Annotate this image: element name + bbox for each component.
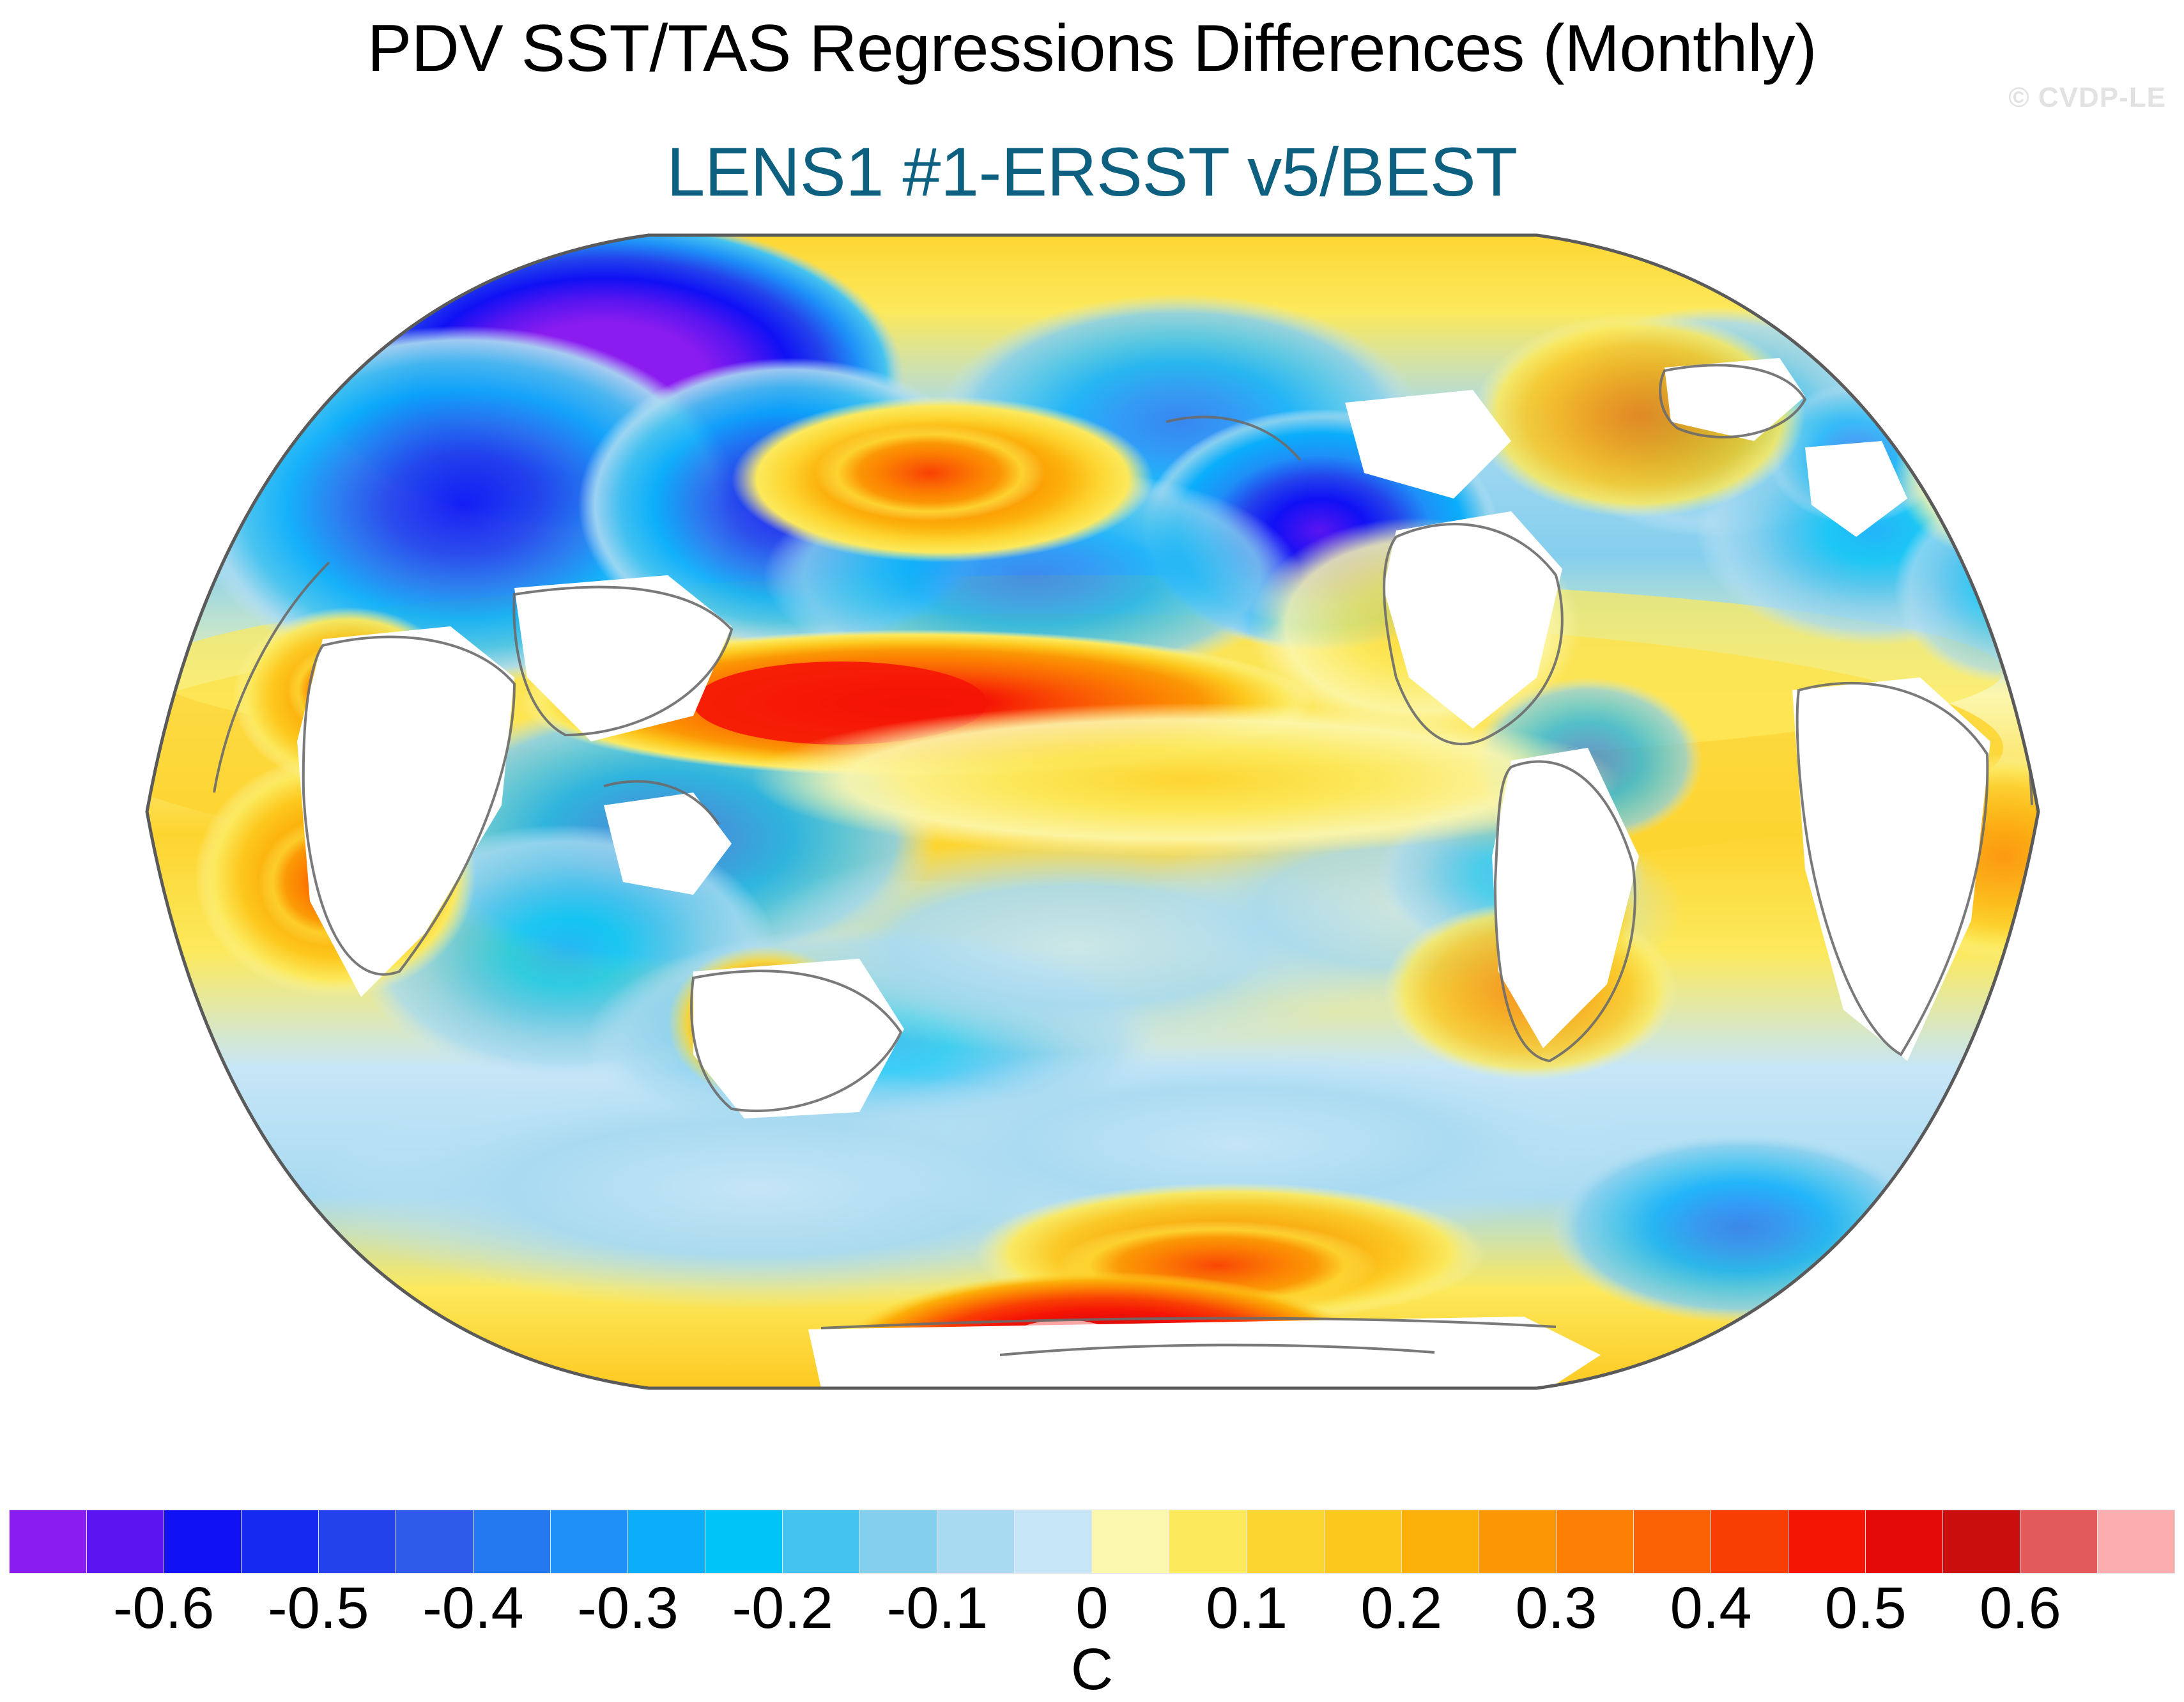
colorbar-cell <box>1092 1510 1169 1573</box>
colorbar-cell <box>2098 1510 2174 1573</box>
colorbar-tick: -0.3 <box>577 1579 679 1637</box>
colorbar-cell <box>87 1510 164 1573</box>
colorbar-tick: -0.6 <box>113 1579 215 1637</box>
colorbar-cell <box>1325 1510 1402 1573</box>
page-title: PDV SST/TAS Regressions Differences (Mon… <box>0 14 2184 84</box>
map-data-layer <box>118 230 2067 1393</box>
colorbar-cell <box>10 1510 87 1573</box>
colorbar-tick: 0 <box>1075 1579 1108 1637</box>
colorbar-cell <box>551 1510 628 1573</box>
colorbar-cell <box>1015 1510 1092 1573</box>
colorbar-tick: 0.5 <box>1825 1579 1907 1637</box>
colorbar-cell <box>1943 1510 2020 1573</box>
colorbar-cell <box>705 1510 783 1573</box>
colorbar-tick: -0.5 <box>268 1579 369 1637</box>
copyright-label: © CVDP-LE <box>2008 82 2166 114</box>
colorbar-cell <box>396 1510 473 1573</box>
colorbar-cell <box>242 1510 319 1573</box>
colorbar-cell <box>628 1510 705 1573</box>
colorbar-cell <box>937 1510 1015 1573</box>
colorbar-cell <box>1247 1510 1325 1573</box>
colorbar-tick: -0.4 <box>422 1579 524 1637</box>
world-map-panel <box>118 230 2067 1393</box>
colorbar-tick: 0.4 <box>1670 1579 1752 1637</box>
colorbar-tick: -0.2 <box>732 1579 833 1637</box>
colorbar-units-label: C <box>1071 1640 1113 1699</box>
anomaly-north-pacific-warm-core <box>815 425 1045 521</box>
colorbar-tick: 0.6 <box>1980 1579 2061 1637</box>
colorbar-cell <box>1711 1510 1788 1573</box>
colorbar-cell <box>473 1510 551 1573</box>
colorbar-cell <box>1866 1510 1943 1573</box>
colorbar-cell <box>164 1510 242 1573</box>
anomaly-weddell-cold <box>1550 1131 1933 1323</box>
colorbar-cell <box>1634 1510 1711 1573</box>
colorbar-cell <box>319 1510 396 1573</box>
colorbar-cell <box>1402 1510 1479 1573</box>
colorbar-cell <box>2020 1510 2098 1573</box>
colorbar-tick: 0.2 <box>1360 1579 1442 1637</box>
colorbar <box>9 1510 2175 1574</box>
colorbar-cell <box>1788 1510 1866 1573</box>
colorbar-cell <box>1169 1510 1247 1573</box>
colorbar-tick: 0.1 <box>1206 1579 1288 1637</box>
colorbar-cell <box>1557 1510 1634 1573</box>
chart-subtitle: LENS1 #1-ERSST v5/BEST <box>0 135 2184 208</box>
colorbar-tick: -0.1 <box>887 1579 988 1637</box>
colorbar-tick: 0.3 <box>1515 1579 1597 1637</box>
colorbar-cell <box>783 1510 860 1573</box>
anomaly-east-pacific-warm-tail <box>751 703 1620 856</box>
colorbar-cell <box>1479 1510 1557 1573</box>
colorbar-cell <box>860 1510 937 1573</box>
robinson-projection-map <box>118 230 2067 1393</box>
